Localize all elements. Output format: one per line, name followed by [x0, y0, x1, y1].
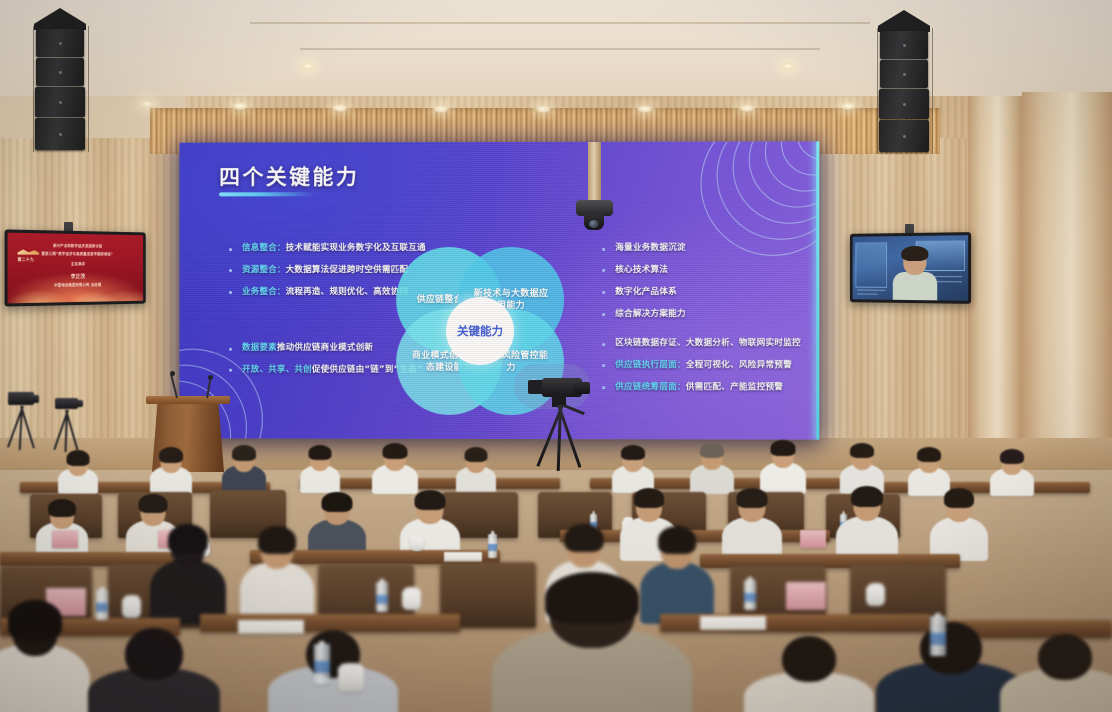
ceiling-seam — [250, 22, 870, 24]
banner-section: 主旨演讲 — [8, 262, 144, 267]
speaker-body — [893, 272, 937, 301]
speaker-wire — [88, 26, 89, 152]
bullet-lead: 供应链执行层面： — [615, 360, 686, 370]
downlight — [232, 102, 248, 110]
audience-member-foreground — [0, 600, 90, 712]
side-display-left-screen: 第二十九 新兴产业和数字经济发展研讨班 暨第三期“数字经济与高质量发展专题研修班… — [8, 233, 144, 304]
podium-top-surface — [146, 396, 230, 404]
camera-lens — [75, 400, 83, 407]
podium-microphone-head — [170, 371, 175, 376]
audience-member — [222, 446, 266, 492]
line-array-speaker-left — [28, 8, 94, 158]
audience-member — [908, 448, 950, 494]
person-hair — [258, 526, 296, 554]
water-bottle — [930, 616, 946, 656]
bottle-label — [96, 603, 108, 612]
camera-lens — [30, 395, 39, 403]
audience-member — [456, 448, 496, 492]
speaker-dot — [59, 101, 62, 104]
bottle-label — [376, 595, 388, 604]
audience-member — [400, 492, 460, 558]
bullet-lead: 供应链统筹层面： — [615, 382, 686, 392]
person-hair — [771, 440, 796, 456]
person-hair — [8, 600, 62, 640]
bullet-item: 供应链执行层面：全程可视化、风险异常预警 — [598, 359, 805, 372]
bullet-text: 数字化产品体系 — [615, 287, 677, 297]
downlight — [433, 105, 449, 113]
person-hair — [159, 447, 183, 463]
bullet-lead: 开放、共享、共创 — [242, 365, 312, 375]
person-hair — [850, 443, 874, 458]
document-sheet — [444, 552, 482, 562]
presentation-screen: 四个关键能力 信息整合：技术赋能实现业务数字化及互联互通 资源整合：大数据算法促… — [179, 141, 819, 439]
video-overlay-panel — [855, 242, 887, 288]
person-hair — [139, 494, 168, 513]
person-hair — [309, 445, 332, 460]
downlight — [300, 62, 316, 70]
audience-member-foreground — [88, 628, 220, 712]
person-hair — [415, 490, 446, 510]
water-bottle — [314, 644, 330, 684]
person-hair — [232, 445, 256, 461]
bullet-text: 大数据算法促进跨时空供需匹配 — [286, 265, 409, 275]
bullet-item: 海量业务数据沉淀 — [598, 242, 789, 255]
video-speaker-figure — [894, 248, 936, 301]
ceiling-camera-glass — [589, 220, 599, 228]
side-display-left: 第二十九 新兴产业和数字经济发展研讨班 暨第三期“数字经济与高质量发展专题研修班… — [5, 229, 146, 306]
speaker-dot — [59, 71, 62, 74]
person-hair — [621, 445, 645, 460]
downlight — [139, 100, 155, 108]
bullet-item: 供应链统筹层面：供需匹配、产能监控预警 — [598, 381, 805, 394]
bullet-item: 数据要素推动供应链商业模式创新 — [225, 342, 424, 355]
teacup — [338, 666, 364, 692]
title-underline — [219, 192, 314, 196]
side-display-right-screen — [853, 235, 968, 301]
bottle-label — [930, 633, 946, 645]
person-head — [1038, 634, 1092, 680]
audience-member — [930, 490, 988, 558]
bullet-item: 核心技术算法 — [598, 264, 789, 277]
audience-member — [150, 448, 192, 492]
audience-member — [836, 488, 898, 558]
water-bottle — [376, 582, 388, 612]
audience-member — [760, 442, 806, 492]
person-body — [0, 644, 90, 712]
bullet-text: 核心技术算法 — [615, 265, 668, 275]
audience-member-foreground — [268, 630, 398, 712]
speaker-dot — [903, 44, 906, 47]
person-hair — [851, 486, 883, 507]
audience-member — [240, 528, 314, 622]
video-overlay-line — [857, 293, 877, 294]
bullet-lead: 资源整合： — [242, 265, 286, 275]
audience-member — [150, 526, 226, 622]
person-hair — [917, 447, 941, 462]
person-hair — [944, 488, 974, 508]
audience-member-foreground — [744, 636, 874, 712]
audience-member — [990, 450, 1034, 494]
speaker-wire — [33, 26, 34, 152]
person-hair — [737, 488, 768, 508]
person-hair — [658, 526, 696, 554]
bullet-lead: 数据要素 — [242, 343, 277, 353]
bullet-item: 综合解决方案能力 — [598, 308, 789, 321]
downlight — [739, 104, 755, 112]
slide-title: 四个关键能力 — [219, 161, 359, 191]
audience-member — [690, 444, 734, 492]
water-bottle — [488, 534, 497, 558]
bullet-item: 区块链数据存证、大数据分析、物联网实时监控 — [598, 337, 805, 350]
speaker-cap — [878, 10, 930, 32]
person-hair — [700, 443, 724, 458]
bullet-text: 流程再造、规则优化、高效协同 — [286, 287, 409, 297]
person-hair — [48, 499, 76, 517]
person-hair — [545, 572, 639, 624]
bullet-item: 开放、共享、共创促使供应链由“链”到“生态” — [225, 364, 424, 377]
video-overlay-line — [857, 290, 885, 291]
audience-area — [0, 430, 1112, 712]
speaker-dot — [903, 73, 906, 76]
downlight — [332, 104, 348, 112]
name-card — [786, 582, 826, 610]
audience-member — [722, 490, 782, 558]
audience-member — [372, 444, 418, 492]
bullet-text: 区块链数据存证、大数据分析、物联网实时监控 — [615, 338, 801, 348]
line-array-speaker-right — [872, 10, 938, 160]
speaker-dot — [903, 135, 906, 138]
person-hair — [1000, 449, 1024, 464]
person-hair — [168, 524, 208, 554]
bullet-text: 海量业务数据沉淀 — [615, 243, 686, 253]
bullet-text: 推动供应链商业模式创新 — [277, 343, 373, 353]
speaker-hair — [901, 246, 928, 261]
water-bottle — [96, 590, 108, 620]
person-hair — [67, 450, 90, 466]
name-card — [52, 530, 78, 548]
teacup — [402, 590, 421, 610]
speaker-cap — [34, 8, 86, 30]
pillar-right-inner — [968, 96, 1022, 476]
bullet-group-right-top: 海量业务数据沉淀 核心技术算法 数字化产品体系 综合解决方案能力 — [598, 242, 789, 330]
person-hair — [565, 524, 604, 552]
downlight — [840, 102, 856, 110]
water-bottle — [744, 580, 756, 610]
person-head — [125, 628, 183, 680]
person-head — [782, 636, 836, 682]
camera-lens — [574, 382, 590, 394]
teacup — [410, 536, 424, 551]
audience-member-foreground — [1000, 634, 1112, 712]
bullet-text: 供需匹配、产能监控预警 — [686, 382, 783, 392]
person-hair — [465, 447, 488, 462]
teacup — [866, 586, 885, 606]
banner-light-effect — [8, 276, 144, 304]
speaker-wire — [932, 28, 933, 154]
side-display-right — [850, 232, 971, 304]
bottle-label — [744, 593, 756, 602]
ceiling-camera-mount — [588, 142, 601, 206]
speaker-dot — [903, 103, 906, 106]
person-hair — [383, 443, 408, 459]
document-sheet — [700, 616, 766, 630]
ceiling-seam — [300, 48, 820, 50]
bullet-lead: 业务整合： — [242, 287, 286, 297]
audience-member — [300, 446, 340, 492]
downlight — [535, 105, 551, 113]
bullet-lead: 信息整合： — [242, 243, 286, 253]
bullet-group-right-bottom: 区块链数据存证、大数据分析、物联网实时监控 供应链执行层面：全程可视化、风险异常… — [598, 337, 805, 403]
podium-microphone-head — [208, 375, 213, 380]
downlight — [637, 105, 653, 113]
teacup — [122, 598, 141, 618]
audience-member-foreground — [492, 576, 692, 712]
screen-edge-glow — [816, 141, 819, 439]
audience-member — [840, 444, 884, 492]
audience-member — [612, 446, 654, 492]
speaker-dot — [59, 133, 62, 136]
bottle-label — [314, 661, 330, 673]
speaker-wire — [877, 28, 878, 154]
bullet-group-left-bottom: 数据要素推动供应链商业模式创新 开放、共享、共创促使供应链由“链”到“生态” — [225, 342, 424, 386]
audience-member — [308, 494, 366, 558]
downlight — [780, 62, 796, 70]
speaker-dot — [59, 42, 62, 45]
bullet-text: 综合解决方案能力 — [615, 309, 686, 319]
bullet-text: 全程可视化、风险异常预警 — [686, 360, 792, 370]
bottle-label — [488, 544, 497, 551]
audience-member — [58, 450, 98, 492]
tripod-pan-handle — [564, 404, 585, 415]
pillar-right-outer — [1022, 92, 1112, 484]
conference-hall-photo: 四个关键能力 信息整合：技术赋能实现业务数字化及互联互通 资源整合：大数据算法促… — [0, 0, 1112, 712]
bullet-item: 数字化产品体系 — [598, 286, 789, 299]
name-card — [800, 530, 826, 548]
banner-subhead: 暨第三期“数字经济与高质量发展专题研修班” — [8, 251, 144, 257]
venn-core-label: 关键能力 — [446, 297, 514, 365]
person-hair — [634, 488, 664, 508]
person-hair — [322, 492, 353, 512]
